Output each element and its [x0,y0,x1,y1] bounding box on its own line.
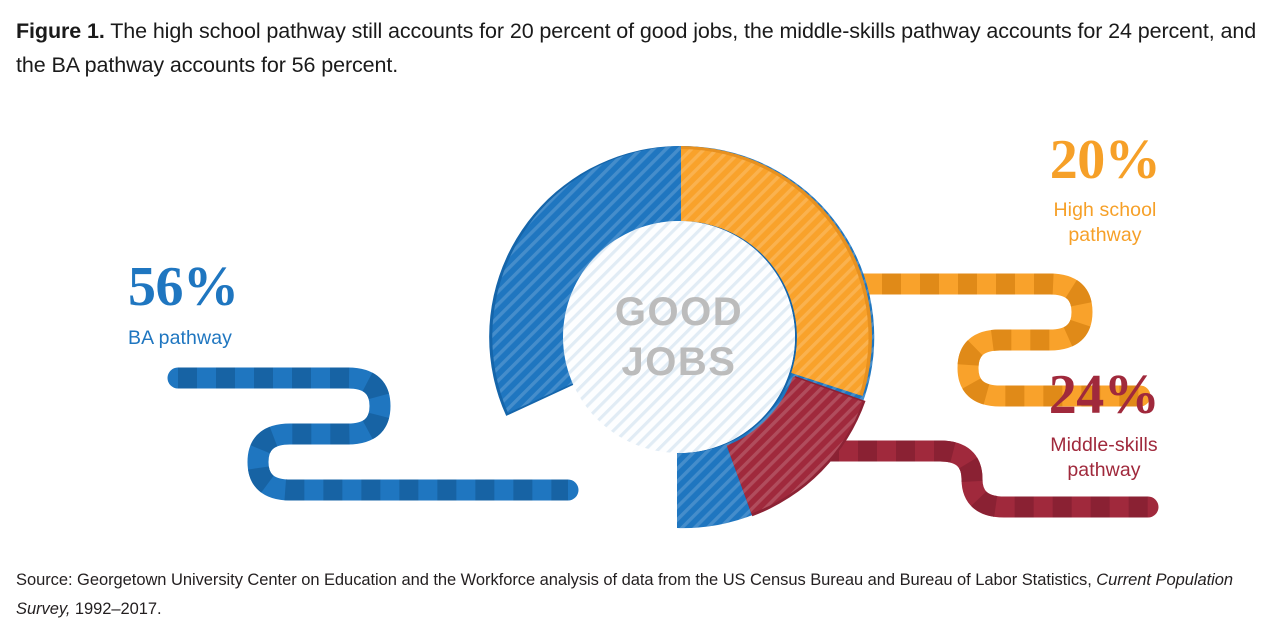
callout-middle-skills-percent: 24% [1002,366,1206,424]
source-note: Source: Georgetown University Center on … [16,566,1264,624]
callout-high-school-name-line1: High school [1054,199,1157,221]
source-tail: 1992–2017. [70,600,161,618]
callout-high-school-name-line2: pathway [1068,224,1141,246]
donut-center-label-line1: GOOD [615,290,743,334]
figure-number: Figure 1. [16,19,105,43]
callout-middle-skills-name-line1: Middle-skills [1050,434,1157,456]
figure-container: Figure 1. The high school pathway still … [0,0,1272,641]
donut-ring [488,146,874,528]
callout-high-school-percent: 20% [1010,131,1200,189]
callout-middle-skills-name-line2: pathway [1067,459,1140,481]
callout-middle-skills: 24% Middle-skills pathway [1002,366,1206,483]
callout-high-school-name: High school pathway [1010,198,1200,248]
callout-ba: 56% BA pathway [128,258,328,351]
callout-high-school: 20% High school pathway [1010,131,1200,248]
source-lead: Source: Georgetown University Center on … [16,571,1096,589]
callout-middle-skills-name: Middle-skills pathway [1002,433,1206,483]
donut-hub-texture [563,221,795,453]
callout-ba-name: BA pathway [128,326,328,351]
callout-ba-percent: 56% [128,258,328,316]
donut-center-label-line2: JOBS [622,340,737,384]
figure-title: Figure 1. The high school pathway still … [16,14,1264,82]
figure-caption: The high school pathway still accounts f… [16,19,1256,77]
